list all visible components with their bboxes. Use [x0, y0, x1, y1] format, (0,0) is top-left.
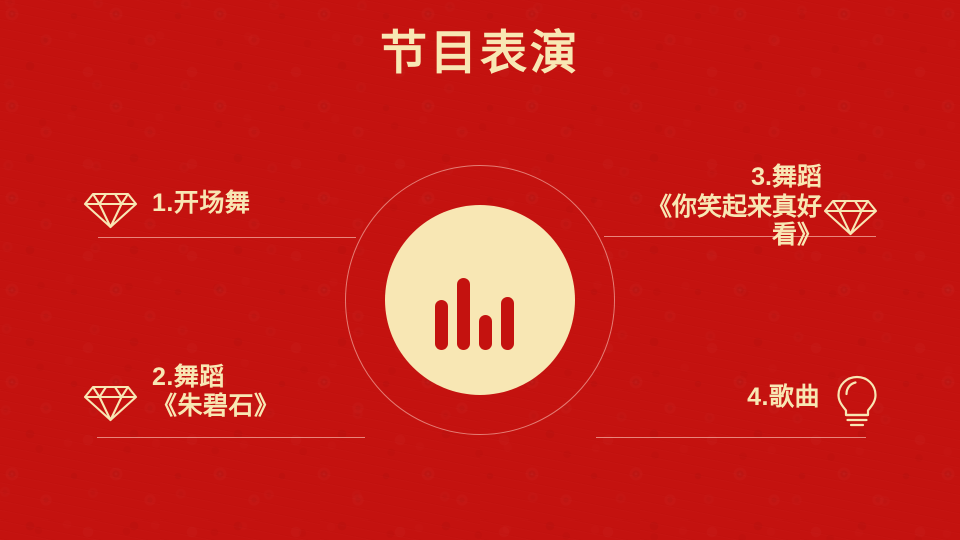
presentation-slide: 节目表演 1.开场舞: [0, 0, 960, 540]
diamond-icon: [82, 383, 139, 423]
divider-line-top-left: [98, 237, 356, 238]
page-title: 节目表演: [0, 27, 960, 79]
program-item-3-label-line2: 《你笑起来真好: [647, 193, 822, 222]
diamond-icon: [822, 197, 879, 237]
equalizer-bars-icon: [385, 205, 575, 395]
divider-line-bottom-left: [97, 437, 365, 438]
program-item-4-label: 4.歌曲: [747, 383, 820, 412]
program-item-3-label-line3: 看》: [772, 221, 822, 250]
divider-line-bottom-right: [596, 437, 866, 438]
program-item-1-label: 1.开场舞: [152, 189, 250, 218]
diamond-icon: [82, 190, 139, 230]
program-item-3-label-line1: 3.舞蹈: [751, 163, 822, 192]
program-item-2-label: 2.舞蹈 《朱碧石》: [152, 363, 280, 421]
lightbulb-icon: [834, 374, 880, 429]
